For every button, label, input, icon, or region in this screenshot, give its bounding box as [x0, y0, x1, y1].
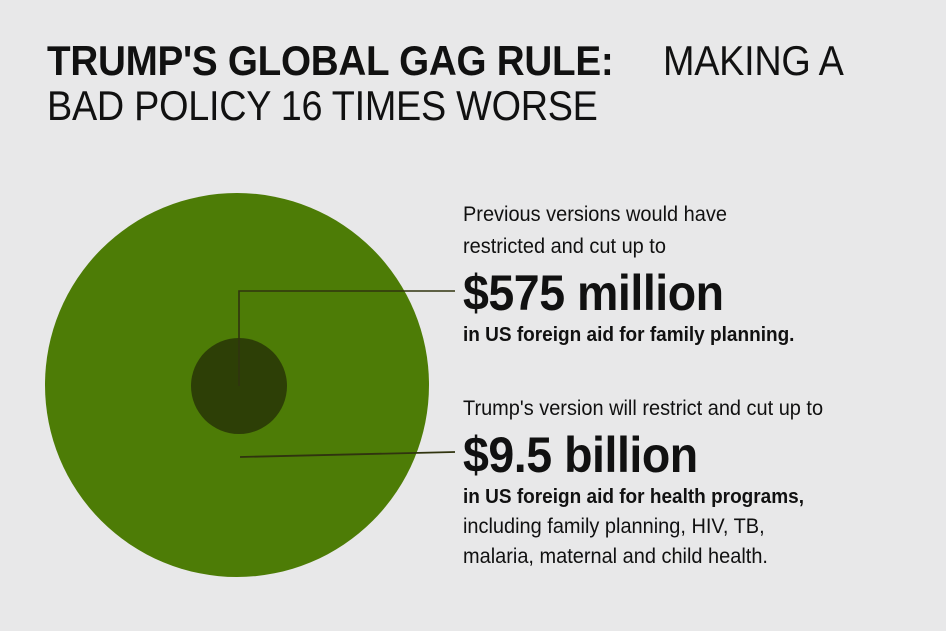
- infographic-canvas: TRUMP'S GLOBAL GAG RULE: MAKING A BAD PO…: [0, 0, 946, 631]
- callout-trump-subtext-bold: in US foreign aid for health programs,: [463, 483, 910, 512]
- callout-trump-subtext-line-1: including family planning, HIV, TB,: [463, 512, 910, 542]
- callout-trump-amount: $9.5 billion: [463, 427, 900, 483]
- callout-previous-lede-line-2: restricted and cut up to: [463, 231, 910, 263]
- callout-trump-subtext-line-2: malaria, maternal and child health.: [463, 542, 910, 572]
- callout-previous-amount: $575 million: [463, 265, 900, 321]
- callout-trump-version: Trump's version will restrict and cut up…: [463, 393, 933, 572]
- callout-trump-lede-line-1: Trump's version will restrict and cut up…: [463, 393, 910, 425]
- callout-previous-subtext: in US foreign aid for family planning.: [463, 321, 910, 350]
- callout-previous-versions: Previous versions would have restricted …: [463, 199, 933, 350]
- callout-previous-lede-line-1: Previous versions would have: [463, 199, 910, 231]
